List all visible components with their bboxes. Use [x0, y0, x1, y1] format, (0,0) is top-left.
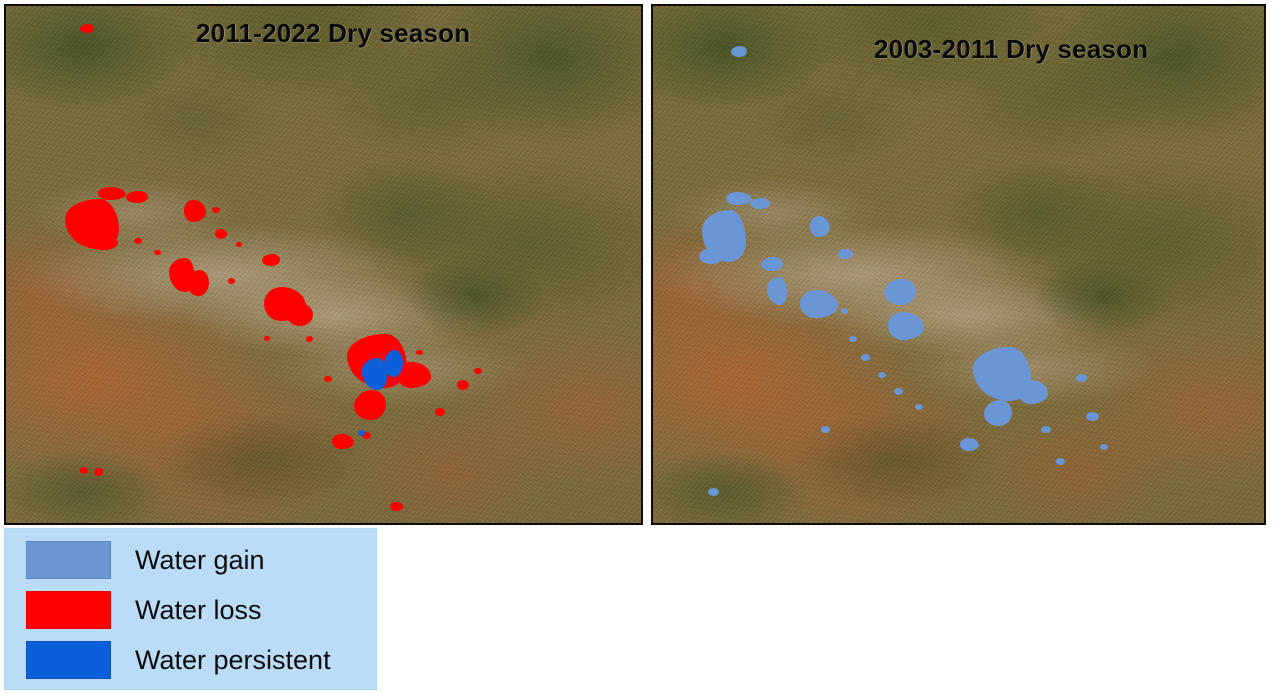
panel-title-right: 2003-2011 Dry season — [874, 34, 1148, 65]
water-loss-swatch — [26, 591, 111, 629]
panel-title-left: 2011-2022 Dry season — [196, 18, 470, 49]
legend: Water gain Water loss Water persistent — [4, 528, 377, 690]
water-change-figure: 2011-2022 Dry season 2003-2011 Dry seaso… — [0, 0, 1280, 694]
legend-row-water-loss: Water loss — [5, 585, 376, 635]
legend-label-water-loss: Water loss — [135, 597, 262, 624]
satellite-basemap-right — [653, 6, 1264, 523]
legend-label-water-persistent: Water persistent — [135, 647, 331, 674]
water-persistent-swatch — [26, 641, 111, 679]
satellite-basemap-left — [6, 6, 641, 523]
legend-row-water-persistent: Water persistent — [5, 635, 376, 685]
water-gain-swatch — [26, 541, 111, 579]
legend-row-water-gain: Water gain — [5, 535, 376, 585]
legend-label-water-gain: Water gain — [135, 547, 265, 574]
map-panel-right[interactable] — [651, 4, 1266, 525]
map-panel-left[interactable] — [4, 4, 643, 525]
